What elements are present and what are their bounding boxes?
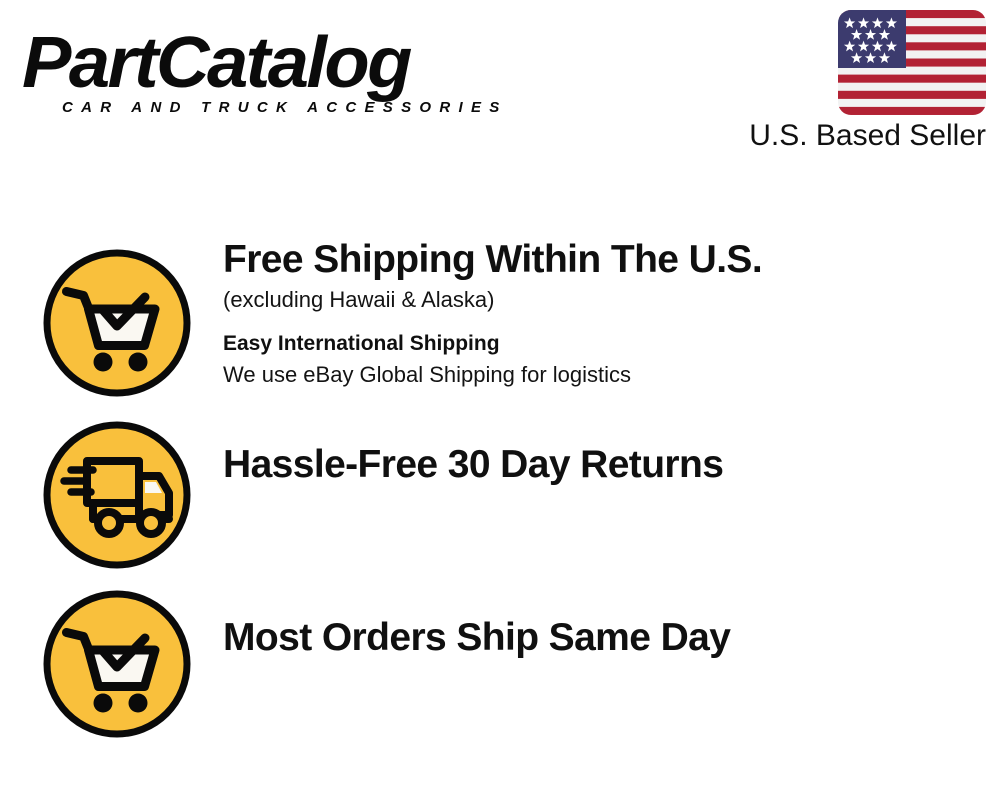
brand-wordmark: PartCatalog	[22, 26, 506, 100]
feature-row: Most Orders Ship Same Day	[0, 570, 1000, 740]
feature-text: Most Orders Ship Same Day	[193, 570, 1000, 661]
feature-heading: Most Orders Ship Same Day	[223, 615, 1000, 661]
shopping-cart-check-icon	[41, 247, 193, 399]
us-based-seller-badge: U.S. Based Seller	[696, 10, 986, 154]
us-flag-icon	[838, 10, 986, 115]
promo-banner: PartCatalog CAR AND TRUCK ACCESSORIES	[0, 0, 1000, 800]
banner-header: PartCatalog CAR AND TRUCK ACCESSORIES	[0, 0, 1000, 175]
shopping-cart-check-icon	[41, 588, 193, 740]
feature-heading: Hassle-Free 30 Day Returns	[223, 442, 1000, 488]
feature-list: Free Shipping Within The U.S. (excluding…	[0, 225, 1000, 765]
feature-text: Hassle-Free 30 Day Returns	[193, 397, 1000, 488]
feature-row: Hassle-Free 30 Day Returns	[0, 397, 1000, 567]
feature-subnote: We use eBay Global Shipping for logistic…	[223, 360, 1000, 390]
us-based-seller-label: U.S. Based Seller	[696, 118, 986, 154]
feature-row: Free Shipping Within The U.S. (excluding…	[0, 225, 1000, 405]
feature-heading: Free Shipping Within The U.S.	[223, 237, 1000, 283]
brand-logo[interactable]: PartCatalog CAR AND TRUCK ACCESSORIES	[22, 26, 492, 116]
feature-text: Free Shipping Within The U.S. (excluding…	[193, 225, 1000, 390]
delivery-truck-icon	[41, 419, 193, 571]
feature-note: (excluding Hawaii & Alaska)	[223, 285, 1000, 315]
feature-subheading: Easy International Shipping	[223, 330, 1000, 358]
brand-tagline: CAR AND TRUCK ACCESSORIES	[62, 100, 508, 116]
